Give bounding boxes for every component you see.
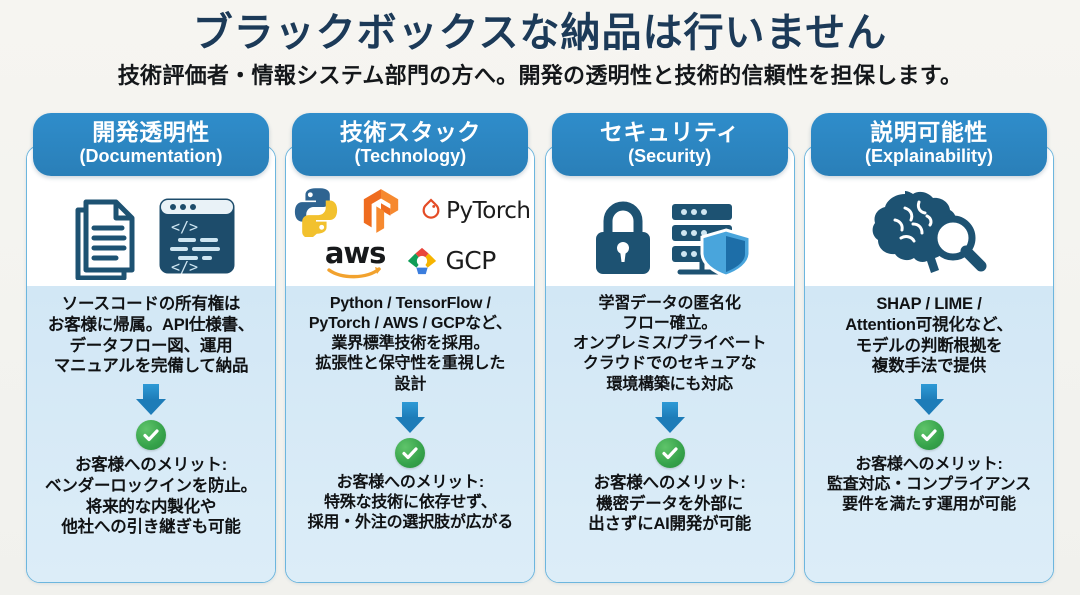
benefit-line: 採用・外注の選択肢が広がる — [308, 513, 513, 533]
desc-line: 業界標準技術を採用。 — [309, 334, 512, 354]
desc-line: オンプレミス/プライベート — [573, 334, 766, 354]
benefit-line: ベンダーロックインを防止。 — [45, 476, 257, 497]
card-benefit: お客様へのメリット: ベンダーロックインを防止。 将来的な内製化や 他社への引き… — [45, 455, 257, 538]
brain-magnifier-icon — [865, 180, 993, 280]
card-title-jp: 技術スタック — [298, 120, 522, 145]
server-shield-icon — [666, 196, 754, 280]
check-circle-icon — [914, 420, 944, 450]
down-arrow-icon — [395, 402, 425, 433]
desc-line: ソースコードの所有権は — [48, 294, 254, 315]
desc-line: PyTorch / AWS / GCPなど、 — [309, 314, 512, 334]
card-panel: SHAP / LIME / Attention可視化など、 モデルの判断根拠を … — [804, 145, 1054, 583]
card-header-security: セキュリティ (Security) — [552, 113, 788, 176]
card-technology: PyTorch aws — [285, 113, 535, 585]
card-title-jp: 説明可能性 — [817, 120, 1041, 145]
card-header-explainability: 説明可能性 (Explainability) — [811, 113, 1047, 176]
card-description: Python / TensorFlow / PyTorch / AWS / GC… — [309, 294, 512, 395]
page-title: ブラックボックスな納品は行いません — [0, 10, 1080, 57]
code-window-icon: </> </> — [156, 194, 238, 278]
benefit-line: お客様へのメリット: — [588, 473, 751, 494]
padlock-icon — [586, 196, 660, 280]
gcp-label: GCP — [445, 246, 495, 275]
benefit-line: 特殊な技術に依存せず、 — [308, 493, 513, 513]
check-circle-icon — [395, 438, 425, 468]
card-explainability: SHAP / LIME / Attention可視化など、 モデルの判断根拠を … — [804, 113, 1054, 585]
svg-text:</>: </> — [171, 218, 198, 236]
page-header: ブラックボックスな納品は行いません 技術評価者・情報システム部門の方へ。開発の透… — [0, 0, 1080, 90]
pytorch-label: PyTorch — [446, 198, 530, 224]
card-title-en: (Technology) — [298, 146, 522, 167]
gcp-logo — [405, 245, 439, 277]
text-area-technology: Python / TensorFlow / PyTorch / AWS / GC… — [286, 286, 534, 582]
desc-line: モデルの判断根拠を — [845, 336, 1013, 357]
card-benefit: お客様へのメリット: 監査対応・コンプライアンス 要件を満たす運用が可能 — [827, 455, 1031, 515]
desc-line: 学習データの匿名化 — [573, 294, 766, 314]
desc-line: 設計 — [309, 375, 512, 395]
card-benefit: お客様へのメリット: 機密データを外部に 出さずにAI開発が可能 — [588, 473, 751, 535]
desc-line: Attention可視化など、 — [845, 315, 1013, 336]
card-title-jp: 開発透明性 — [39, 120, 263, 145]
desc-line: Python / TensorFlow / — [309, 294, 512, 314]
card-title-jp: セキュリティ — [558, 120, 782, 145]
desc-line: データフロー図、運用 — [48, 336, 254, 357]
card-title-en: (Explainability) — [817, 146, 1041, 167]
benefit-line: お客様へのメリット: — [45, 455, 257, 476]
card-description: 学習データの匿名化 フロー確立。 オンプレミス/プライベート クラウドでのセキュ… — [573, 294, 766, 395]
check-circle-icon — [136, 420, 166, 450]
card-row: </> </> — [0, 113, 1080, 585]
benefit-line: 他社への引き継ぎも可能 — [45, 517, 257, 538]
benefit-line: 要件を満たす運用が可能 — [827, 495, 1031, 515]
card-title-en: (Documentation) — [39, 146, 263, 167]
benefit-line: 監査対応・コンプライアンス — [827, 475, 1031, 495]
documents-icon — [64, 192, 146, 280]
pytorch-logo — [420, 198, 442, 224]
card-panel: </> </> — [26, 145, 276, 583]
card-header-technology: 技術スタック (Technology) — [292, 113, 528, 176]
check-circle-icon — [655, 438, 685, 468]
benefit-line: 将来的な内製化や — [45, 497, 257, 518]
card-panel: PyTorch aws — [285, 145, 535, 583]
down-arrow-icon — [914, 384, 944, 415]
aws-logo: aws — [325, 241, 386, 280]
desc-line: クラウドでのセキュアな — [573, 354, 766, 374]
tensorflow-logo — [356, 185, 406, 237]
card-header-documentation: 開発透明性 (Documentation) — [33, 113, 269, 176]
text-area-security: 学習データの匿名化 フロー確立。 オンプレミス/プライベート クラウドでのセキュ… — [546, 286, 794, 582]
benefit-line: お客様へのメリット: — [308, 473, 513, 493]
desc-line: 複数手法で提供 — [845, 356, 1013, 377]
desc-line: マニュアルを完備して納品 — [48, 356, 254, 377]
svg-text:</>: </> — [171, 258, 198, 276]
down-arrow-icon — [655, 402, 685, 433]
text-area-explainability: SHAP / LIME / Attention可視化など、 モデルの判断根拠を … — [805, 286, 1053, 582]
card-panel: 学習データの匿名化 フロー確立。 オンプレミス/プライベート クラウドでのセキュ… — [545, 145, 795, 583]
desc-line: 拡張性と保守性を重視した — [309, 354, 512, 374]
card-description: ソースコードの所有権は お客様に帰属。API仕様書、 データフロー図、運用 マニ… — [48, 294, 254, 377]
page-subtitle: 技術評価者・情報システム部門の方へ。開発の透明性と技術的信頼性を担保します。 — [0, 63, 1080, 89]
benefit-line: お客様へのメリット: — [827, 455, 1031, 475]
text-area-documentation: ソースコードの所有権は お客様に帰属。API仕様書、 データフロー図、運用 マニ… — [27, 286, 275, 582]
down-arrow-icon — [136, 384, 166, 415]
card-benefit: お客様へのメリット: 特殊な技術に依存せず、 採用・外注の選択肢が広がる — [308, 473, 513, 533]
desc-line: 環境構築にも対応 — [573, 375, 766, 395]
card-title-en: (Security) — [558, 146, 782, 167]
card-security: 学習データの匿名化 フロー確立。 オンプレミス/プライベート クラウドでのセキュ… — [545, 113, 795, 585]
aws-label: aws — [325, 241, 386, 266]
benefit-line: 出さずにAI開発が可能 — [588, 514, 751, 535]
aws-swoosh-icon — [327, 266, 383, 280]
benefit-line: 機密データを外部に — [588, 494, 751, 515]
desc-line: フロー確立。 — [573, 314, 766, 334]
python-logo — [290, 185, 342, 237]
desc-line: お客様に帰属。API仕様書、 — [48, 315, 254, 336]
desc-line: SHAP / LIME / — [845, 294, 1013, 315]
infographic-page: ブラックボックスな納品は行いません 技術評価者・情報システム部門の方へ。開発の透… — [0, 0, 1080, 595]
card-description: SHAP / LIME / Attention可視化など、 モデルの判断根拠を … — [845, 294, 1013, 377]
card-documentation: </> </> — [26, 113, 276, 585]
